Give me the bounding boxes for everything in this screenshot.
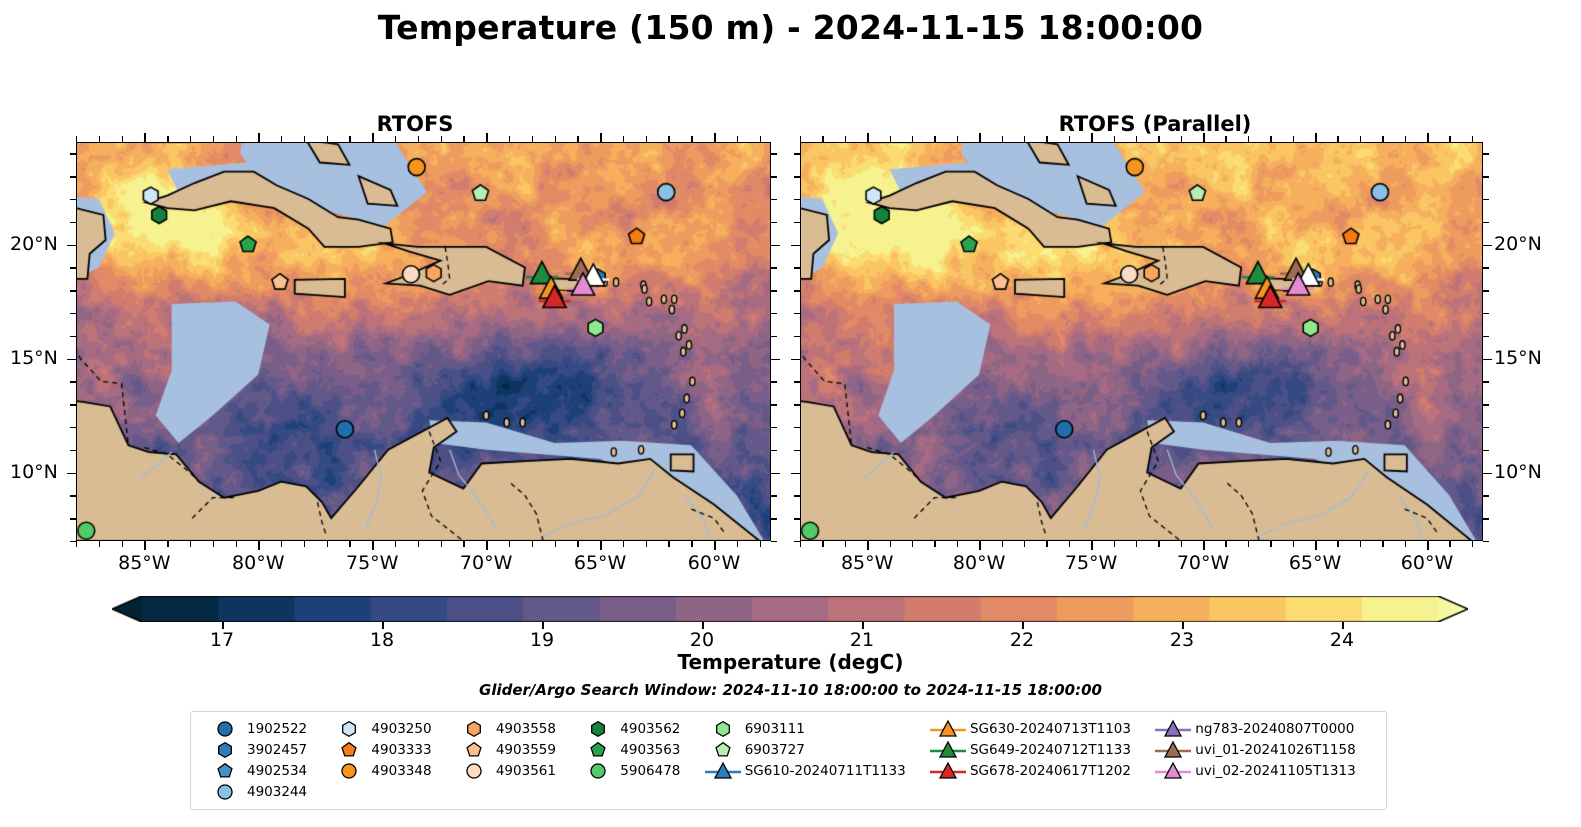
y-tick-right — [771, 404, 777, 405]
x-tick-top — [912, 136, 913, 142]
y-tick-right — [771, 450, 777, 451]
panel-title-rtofs-parallel: RTOFS (Parallel) — [960, 112, 1350, 136]
y-tick-right — [771, 222, 777, 223]
x-tick — [395, 541, 396, 547]
legend-label: 4902534 — [247, 763, 321, 779]
x-tick — [1293, 541, 1294, 547]
y-tick-left — [70, 290, 76, 291]
x-tick-top — [418, 136, 419, 142]
map-panel-rtofs[interactable] — [76, 142, 771, 541]
y-tick-left — [70, 153, 76, 154]
x-tick — [1449, 541, 1450, 547]
legend-column-4: 69031116903727SG610-20240711T1133 — [701, 719, 926, 802]
y-tick-left — [794, 267, 800, 268]
x-axis-label-rtofs-parallel: 85°W — [822, 552, 912, 574]
x-tick-top — [532, 136, 533, 142]
x-tick-top — [236, 136, 237, 142]
x-tick-top — [213, 136, 214, 142]
legend-item-argo-1902522[interactable]: 1902522 — [203, 719, 327, 739]
x-tick-top — [349, 136, 350, 142]
y-tick-right — [1483, 359, 1492, 361]
colorbar-tick-label: 21 — [827, 629, 897, 651]
y-tick-right — [1483, 473, 1492, 475]
y-tick-left — [67, 245, 76, 247]
x-tick — [281, 541, 282, 547]
y-tick-left — [794, 153, 800, 154]
y-axis-label-right: 10°N — [1494, 461, 1542, 483]
x-tick-top — [555, 136, 556, 142]
y-tick-left — [70, 336, 76, 337]
y-tick-left — [70, 381, 76, 382]
y-tick-left — [791, 359, 800, 361]
colorbar-tick — [702, 622, 704, 629]
x-tick — [1225, 541, 1226, 547]
x-tick-top — [1136, 136, 1137, 142]
argo-1902522-marker-icon — [203, 719, 247, 739]
x-tick — [1337, 541, 1338, 547]
x-tick-top — [486, 133, 488, 142]
x-tick-top — [122, 136, 123, 142]
x-tick — [1002, 541, 1003, 547]
legend-label: 4903559 — [496, 742, 570, 758]
x-tick-top — [441, 136, 442, 142]
colorbar-title: Temperature (degC) — [0, 650, 1581, 674]
y-tick-right — [1483, 176, 1489, 177]
y-tick-right — [771, 267, 777, 268]
x-tick-top — [1046, 136, 1047, 142]
legend-label: 6903727 — [745, 742, 819, 758]
y-axis-label-left: 15°N — [10, 347, 58, 369]
y-tick-left — [70, 541, 76, 542]
panel-title-rtofs: RTOFS — [250, 112, 580, 136]
x-tick — [349, 541, 350, 547]
y-tick-left — [794, 381, 800, 382]
x-tick-top — [800, 136, 801, 142]
y-tick-right — [771, 427, 777, 428]
colorbar-tick-label: 22 — [987, 629, 1057, 651]
y-tick-right — [1483, 199, 1489, 200]
x-tick — [1114, 541, 1115, 547]
x-tick — [737, 541, 738, 547]
legend-item-argo-4903563[interactable]: 4903563 — [576, 740, 700, 760]
legend-item-argo-4903559[interactable]: 4903559 — [452, 740, 576, 760]
x-tick-top — [957, 136, 958, 142]
colorbar-tick-label: 24 — [1307, 629, 1377, 651]
argo-4903559-marker-icon — [452, 740, 496, 760]
y-tick-left — [794, 290, 800, 291]
x-tick — [1181, 541, 1182, 547]
x-tick — [1024, 541, 1025, 547]
x-tick — [890, 541, 891, 547]
x-tick — [800, 541, 801, 547]
x-tick-top — [395, 136, 396, 142]
legend-item-glider-uvi01[interactable]: uvi_01-20241026T1158 — [1151, 740, 1376, 760]
y-tick-left — [794, 404, 800, 405]
legend-item-argo-6903727[interactable]: 6903727 — [701, 740, 926, 760]
legend-item-argo-4903562[interactable]: 4903562 — [576, 719, 700, 739]
x-axis-label-rtofs: 80°W — [213, 552, 303, 574]
y-tick-right — [771, 290, 777, 291]
x-tick — [867, 541, 869, 550]
colorbar-tick-label: 23 — [1147, 629, 1217, 651]
y-tick-left — [794, 495, 800, 496]
x-tick-top — [1091, 133, 1093, 142]
x-tick-top — [691, 136, 692, 142]
y-axis-label-right: 20°N — [1494, 233, 1542, 255]
x-tick — [1248, 541, 1249, 547]
legend[interactable]: 1902522390245749025344903244490325049033… — [190, 711, 1387, 810]
x-tick-top — [1158, 136, 1159, 142]
y-tick-left — [794, 336, 800, 337]
x-axis-label-rtofs: 65°W — [555, 552, 645, 574]
x-axis-label-rtofs-parallel: 75°W — [1046, 552, 1136, 574]
legend-item-glider-uvi02[interactable]: uvi_02-20241105T1313 — [1151, 761, 1376, 781]
x-axis-label-rtofs-parallel: 65°W — [1270, 552, 1360, 574]
glider-sg610-marker-icon — [701, 761, 745, 781]
x-tick — [1091, 541, 1093, 550]
y-tick-right — [1483, 222, 1489, 223]
y-tick-right — [771, 473, 780, 475]
legend-column-5: SG630-20240713T1103SG649-20240712T1133SG… — [926, 719, 1151, 802]
y-tick-right — [771, 336, 777, 337]
x-tick — [646, 541, 647, 547]
legend-item-argo-4903333[interactable]: 4903333 — [327, 740, 451, 760]
x-tick — [760, 541, 761, 547]
x-tick-top — [1360, 136, 1361, 142]
legend-label: 6903111 — [745, 721, 819, 737]
legend-label: 1902522 — [247, 721, 321, 737]
x-axis-label-rtofs: 85°W — [99, 552, 189, 574]
colorbar[interactable] — [112, 596, 1468, 622]
x-tick — [258, 541, 260, 550]
x-axis-label-rtofs-parallel: 70°W — [1158, 552, 1248, 574]
y-tick-right — [771, 199, 777, 200]
x-axis-label-rtofs: 70°W — [441, 552, 531, 574]
x-tick-top — [668, 136, 669, 142]
argo-4903558-marker-icon — [452, 719, 496, 739]
legend-label: SG630-20240713T1103 — [970, 721, 1145, 737]
y-tick-right — [1483, 336, 1489, 337]
x-axis-label-rtofs: 60°W — [669, 552, 759, 574]
glider-sg678-marker-icon — [926, 761, 970, 781]
x-tick — [845, 541, 846, 547]
y-tick-left — [794, 518, 800, 519]
argo-4903562-marker-icon — [576, 719, 620, 739]
x-tick-top — [845, 136, 846, 142]
legend-label: uvi_01-20241026T1158 — [1195, 742, 1369, 758]
x-tick-top — [304, 136, 305, 142]
x-tick — [99, 541, 100, 547]
x-tick — [509, 541, 510, 547]
x-tick — [167, 541, 168, 547]
y-tick-right — [1483, 427, 1489, 428]
x-tick — [1427, 541, 1429, 550]
legend-column-2: 490355849035594903561 — [452, 719, 576, 802]
y-tick-left — [794, 313, 800, 314]
legend-item-argo-5906478[interactable]: 5906478 — [576, 761, 700, 781]
x-tick-top — [760, 136, 761, 142]
x-tick — [1270, 541, 1271, 547]
x-tick — [957, 541, 958, 547]
x-tick-top — [144, 133, 146, 142]
glider-ng783-marker-icon — [1151, 719, 1195, 739]
x-axis-label-rtofs-parallel: 60°W — [1382, 552, 1472, 574]
y-tick-left — [70, 267, 76, 268]
x-tick-top — [1270, 136, 1271, 142]
x-tick-top — [1181, 136, 1182, 142]
legend-label: 4903561 — [496, 763, 570, 779]
x-tick — [979, 541, 981, 550]
x-tick-top — [714, 133, 716, 142]
y-tick-left — [67, 473, 76, 475]
y-tick-right — [1483, 518, 1489, 519]
y-tick-right — [771, 313, 777, 314]
figure-title: Temperature (150 m) - 2024-11-15 18:00:0… — [0, 8, 1581, 47]
colorbar-tick — [542, 622, 544, 629]
legend-item-argo-6903111[interactable]: 6903111 — [701, 719, 926, 739]
legend-item-argo-4903250[interactable]: 4903250 — [327, 719, 451, 739]
y-tick-right — [771, 359, 780, 361]
legend-item-argo-3902457[interactable]: 3902457 — [203, 740, 327, 760]
map-panel-rtofs-parallel[interactable] — [800, 142, 1483, 541]
x-tick-top — [600, 133, 602, 142]
x-tick-top — [577, 136, 578, 142]
y-tick-left — [791, 245, 800, 247]
x-tick — [1472, 541, 1473, 547]
y-tick-right — [1483, 313, 1489, 314]
y-tick-right — [771, 541, 777, 542]
x-tick — [372, 541, 374, 550]
legend-item-glider-sg630[interactable]: SG630-20240713T1103 — [926, 719, 1151, 739]
x-tick — [1315, 541, 1317, 550]
colorbar-tick-label: 20 — [667, 629, 737, 651]
x-tick-top — [979, 133, 981, 142]
glider-uvi01-marker-icon — [1151, 740, 1195, 760]
x-tick — [668, 541, 669, 547]
glider-sg630-marker-icon — [926, 719, 970, 739]
x-tick-top — [1069, 136, 1070, 142]
y-tick-right — [771, 153, 777, 154]
legend-label: 4903250 — [371, 721, 445, 737]
x-tick-top — [1293, 136, 1294, 142]
y-tick-left — [794, 450, 800, 451]
x-tick — [691, 541, 692, 547]
x-tick — [418, 541, 419, 547]
legend-label: 4903333 — [371, 742, 445, 758]
y-tick-left — [70, 450, 76, 451]
x-tick-top — [509, 136, 510, 142]
x-tick — [463, 541, 464, 547]
glider-uvi02-marker-icon — [1151, 761, 1195, 781]
legend-item-glider-sg649[interactable]: SG649-20240712T1133 — [926, 740, 1151, 760]
y-tick-left — [794, 176, 800, 177]
x-axis-label-rtofs-parallel: 80°W — [934, 552, 1024, 574]
colorbar-tick — [862, 622, 864, 629]
y-tick-left — [794, 427, 800, 428]
y-tick-right — [1483, 290, 1489, 291]
legend-item-argo-4903348[interactable]: 4903348 — [327, 761, 451, 781]
search-window-subtitle: Glider/Argo Search Window: 2024-11-10 18… — [0, 681, 1581, 699]
x-tick-top — [1472, 136, 1473, 142]
x-tick — [486, 541, 488, 550]
x-tick-top — [737, 136, 738, 142]
y-tick-right — [1483, 153, 1489, 154]
y-tick-left — [70, 313, 76, 314]
legend-column-0: 1902522390245749025344903244 — [203, 719, 327, 802]
x-tick-top — [934, 136, 935, 142]
x-tick — [555, 541, 556, 547]
argo-5906478-marker-icon — [576, 761, 620, 781]
x-tick — [190, 541, 191, 547]
argo-6903727-marker-icon — [701, 740, 745, 760]
y-tick-left — [70, 518, 76, 519]
x-tick — [1382, 541, 1383, 547]
argo-4903333-marker-icon — [327, 740, 371, 760]
x-tick — [623, 541, 624, 547]
x-tick-top — [1002, 136, 1003, 142]
x-tick-top — [372, 133, 374, 142]
x-tick-top — [1427, 133, 1429, 142]
legend-item-argo-4903244[interactable]: 4903244 — [203, 782, 327, 802]
legend-item-argo-4903561[interactable]: 4903561 — [452, 761, 576, 781]
y-tick-left — [70, 427, 76, 428]
y-tick-left — [791, 473, 800, 475]
y-axis-label-right: 15°N — [1494, 347, 1542, 369]
y-tick-right — [1483, 267, 1489, 268]
legend-label: 4903244 — [247, 784, 321, 800]
colorbar-tick-label: 19 — [507, 629, 577, 651]
map-canvas-rtofs-parallel — [800, 142, 1483, 541]
x-tick — [1405, 541, 1406, 547]
legend-label: 4903563 — [620, 742, 694, 758]
y-tick-left — [70, 176, 76, 177]
x-tick — [822, 541, 823, 547]
x-tick — [714, 541, 716, 550]
legend-label: uvi_02-20241105T1313 — [1195, 763, 1369, 779]
argo-4903563-marker-icon — [576, 740, 620, 760]
legend-item-glider-ng783[interactable]: ng783-20240807T0000 — [1151, 719, 1376, 739]
y-tick-left — [70, 222, 76, 223]
x-tick — [1360, 541, 1361, 547]
x-tick — [304, 541, 305, 547]
x-tick — [934, 541, 935, 547]
x-tick-top — [1225, 136, 1226, 142]
x-tick-top — [1405, 136, 1406, 142]
x-tick-top — [327, 136, 328, 142]
argo-4903348-marker-icon — [327, 761, 371, 781]
y-tick-left — [70, 404, 76, 405]
legend-label: 4903348 — [371, 763, 445, 779]
x-tick-top — [1248, 136, 1249, 142]
x-tick — [532, 541, 533, 547]
y-tick-right — [1483, 541, 1489, 542]
argo-4902534-marker-icon — [203, 761, 247, 781]
argo-6903111-marker-icon — [701, 719, 745, 739]
colorbar-tick — [1342, 622, 1344, 629]
y-tick-left — [70, 495, 76, 496]
y-tick-right — [1483, 245, 1492, 247]
y-tick-left — [70, 199, 76, 200]
y-tick-right — [1483, 381, 1489, 382]
y-tick-right — [771, 245, 780, 247]
x-tick — [213, 541, 214, 547]
x-tick-top — [1024, 136, 1025, 142]
x-tick — [1069, 541, 1070, 547]
y-tick-right — [771, 495, 777, 496]
x-tick-top — [99, 136, 100, 142]
x-tick — [1158, 541, 1159, 547]
y-tick-right — [1483, 450, 1489, 451]
x-tick-top — [822, 136, 823, 142]
x-tick — [122, 541, 123, 547]
x-tick — [600, 541, 602, 550]
legend-label: 4903562 — [620, 721, 694, 737]
x-tick — [76, 541, 77, 547]
x-tick-top — [1203, 133, 1205, 142]
legend-column-1: 490325049033334903348 — [327, 719, 451, 802]
x-tick-top — [623, 136, 624, 142]
x-tick-top — [1449, 136, 1450, 142]
y-tick-left — [67, 359, 76, 361]
colorbar-tick — [1022, 622, 1024, 629]
colorbar-tick-label: 18 — [347, 629, 417, 651]
x-tick-top — [867, 133, 869, 142]
map-canvas-rtofs — [76, 142, 771, 541]
x-tick-top — [646, 136, 647, 142]
legend-item-glider-sg678[interactable]: SG678-20240617T1202 — [926, 761, 1151, 781]
legend-column-6: ng783-20240807T0000uvi_01-20241026T1158u… — [1151, 719, 1376, 802]
legend-label: ng783-20240807T0000 — [1195, 721, 1368, 737]
x-tick — [1136, 541, 1137, 547]
x-tick — [1046, 541, 1047, 547]
legend-item-glider-sg610[interactable]: SG610-20240711T1133 — [701, 761, 926, 781]
x-tick — [441, 541, 442, 547]
y-tick-right — [771, 176, 777, 177]
x-tick-top — [167, 136, 168, 142]
y-tick-right — [1483, 404, 1489, 405]
colorbar-tick — [382, 622, 384, 629]
colorbar-tick — [222, 622, 224, 629]
y-axis-label-left: 10°N — [10, 461, 58, 483]
x-tick-top — [281, 136, 282, 142]
legend-item-argo-4903558[interactable]: 4903558 — [452, 719, 576, 739]
y-tick-left — [794, 541, 800, 542]
x-tick-top — [76, 136, 77, 142]
x-tick-top — [1315, 133, 1317, 142]
y-tick-left — [794, 222, 800, 223]
x-tick-top — [1382, 136, 1383, 142]
x-tick-top — [190, 136, 191, 142]
y-tick-right — [1483, 495, 1489, 496]
glider-sg649-marker-icon — [926, 740, 970, 760]
argo-4903250-marker-icon — [327, 719, 371, 739]
x-tick-top — [463, 136, 464, 142]
legend-label: SG610-20240711T1133 — [745, 763, 920, 779]
legend-item-argo-4902534[interactable]: 4902534 — [203, 761, 327, 781]
x-tick — [144, 541, 146, 550]
x-tick-top — [890, 136, 891, 142]
y-tick-right — [771, 381, 777, 382]
colorbar-tick-label: 17 — [187, 629, 257, 651]
x-tick — [236, 541, 237, 547]
argo-4903561-marker-icon — [452, 761, 496, 781]
y-tick-right — [771, 518, 777, 519]
legend-column-3: 490356249035635906478 — [576, 719, 700, 802]
argo-3902457-marker-icon — [203, 740, 247, 760]
y-tick-left — [794, 199, 800, 200]
legend-label: 5906478 — [620, 763, 694, 779]
x-tick-top — [1337, 136, 1338, 142]
